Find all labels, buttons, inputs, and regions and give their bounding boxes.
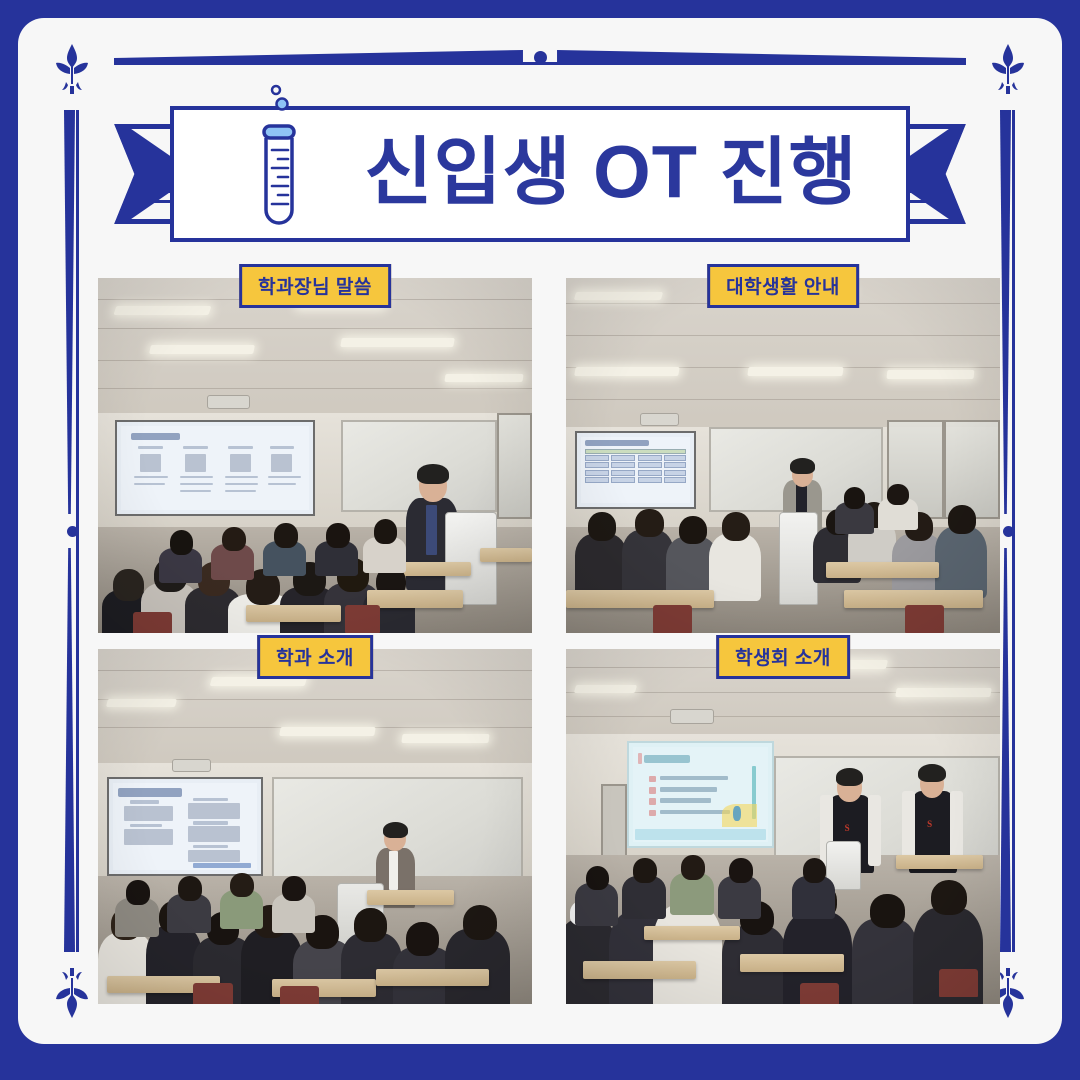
fleur-de-lis-icon: [48, 966, 96, 1020]
photo-1: [98, 278, 532, 633]
test-tube-icon: [256, 82, 302, 242]
photo-card-1: 학과장님 말씀: [98, 278, 532, 633]
right-side-rail: [998, 110, 1018, 952]
page-title: 신입생 OT 진행: [334, 136, 888, 210]
left-side-rail: [62, 110, 82, 952]
poster-card: 신입생 OT 진행: [18, 18, 1062, 1044]
photo-caption: 학생회 소개: [716, 635, 850, 679]
photo-grid: 학과장님 말씀: [98, 278, 1000, 1004]
fleur-de-lis-icon: [48, 42, 96, 96]
tapered-rule-with-dot-icon: [114, 46, 966, 68]
photo-caption: 대학생활 안내: [707, 264, 859, 308]
photo-2: [566, 278, 1000, 633]
photo-card-2: 대학생활 안내: [566, 278, 1000, 633]
title-box: 신입생 OT 진행: [170, 106, 910, 242]
photo-card-4: S S: [566, 649, 1000, 1004]
photo-caption: 학과장님 말씀: [239, 264, 391, 308]
photo-card-3: 학과 소개: [98, 649, 532, 1004]
fleur-de-lis-icon: [984, 42, 1032, 96]
title-banner: 신입생 OT 진행: [114, 106, 966, 242]
photo-caption: 학과 소개: [257, 635, 373, 679]
photo-3: [98, 649, 532, 1004]
photo-4: S S: [566, 649, 1000, 1004]
